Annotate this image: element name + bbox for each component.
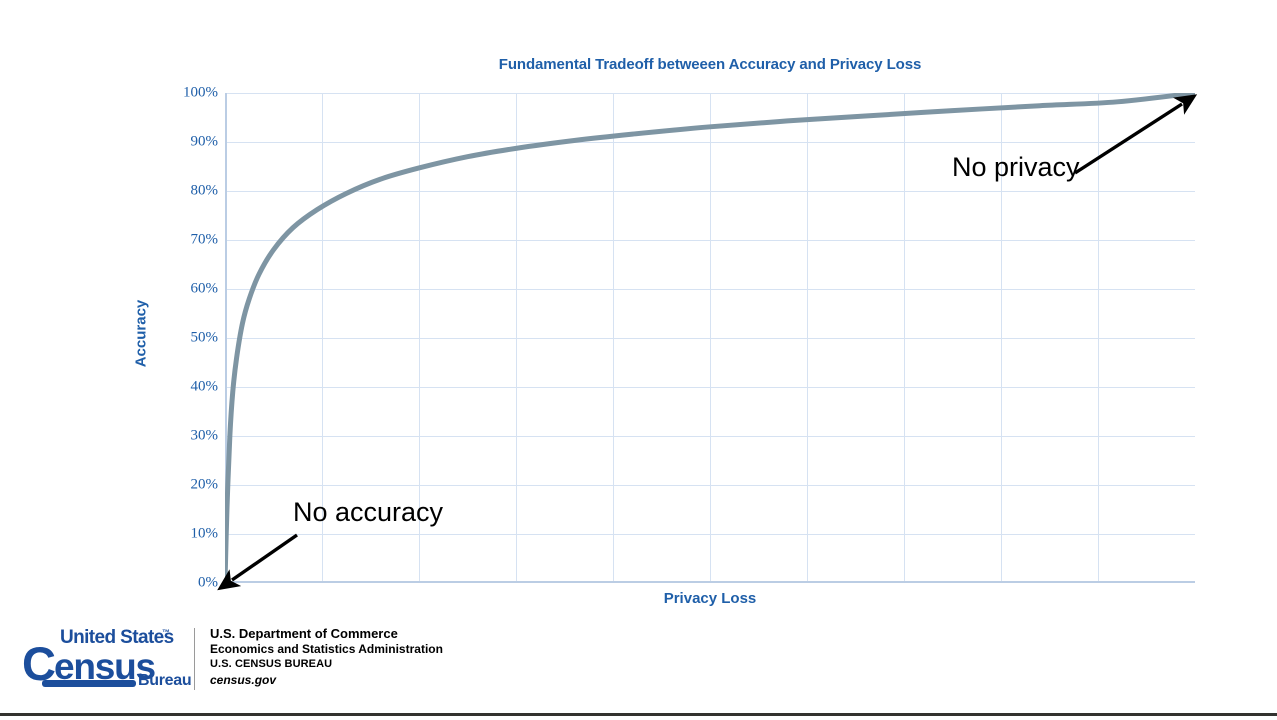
y-tick-10: 10% [96, 527, 218, 542]
x-axis-title: Privacy Loss [225, 590, 1195, 607]
slide-footer: C United States ™ ensus Bureau U.S. Depa… [0, 614, 1277, 720]
y-axis-title-text: Accuracy [133, 299, 150, 367]
footer-line-website: census.gov [210, 672, 443, 688]
footer-line-esa: Economics and Statistics Administration [210, 642, 443, 657]
y-axis-title: Accuracy [121, 258, 161, 408]
footer-vertical-divider [194, 628, 195, 690]
y-tick-90: 90% [96, 135, 218, 150]
slide-canvas: Fundamental Tradeoff betweeen Accuracy a… [0, 0, 1277, 720]
logo-bureau-text: Bureau [138, 673, 191, 689]
footer-line-census-bureau: U.S. CENSUS BUREAU [210, 657, 443, 672]
y-tick-30: 30% [96, 429, 218, 444]
y-tick-100: 100% [96, 86, 218, 101]
census-bureau-logo: C United States ™ ensus Bureau [22, 628, 184, 690]
y-tick-0: 0% [96, 576, 218, 591]
y-tick-20: 20% [96, 478, 218, 493]
bottom-rule [0, 713, 1277, 716]
chart-title: Fundamental Tradeoff betweeen Accuracy a… [225, 56, 1195, 73]
logo-united-states-text: United States [60, 628, 174, 647]
y-tick-80: 80% [96, 184, 218, 199]
annotation-no-privacy: No privacy [952, 152, 1080, 183]
y-tick-70: 70% [96, 233, 218, 248]
logo-bar-divider [42, 680, 136, 687]
footer-agency-text: U.S. Department of Commerce Economics an… [210, 626, 443, 688]
annotation-no-accuracy: No accuracy [293, 497, 443, 528]
footer-line-department: U.S. Department of Commerce [210, 626, 443, 642]
logo-trademark-icon: ™ [162, 628, 170, 637]
